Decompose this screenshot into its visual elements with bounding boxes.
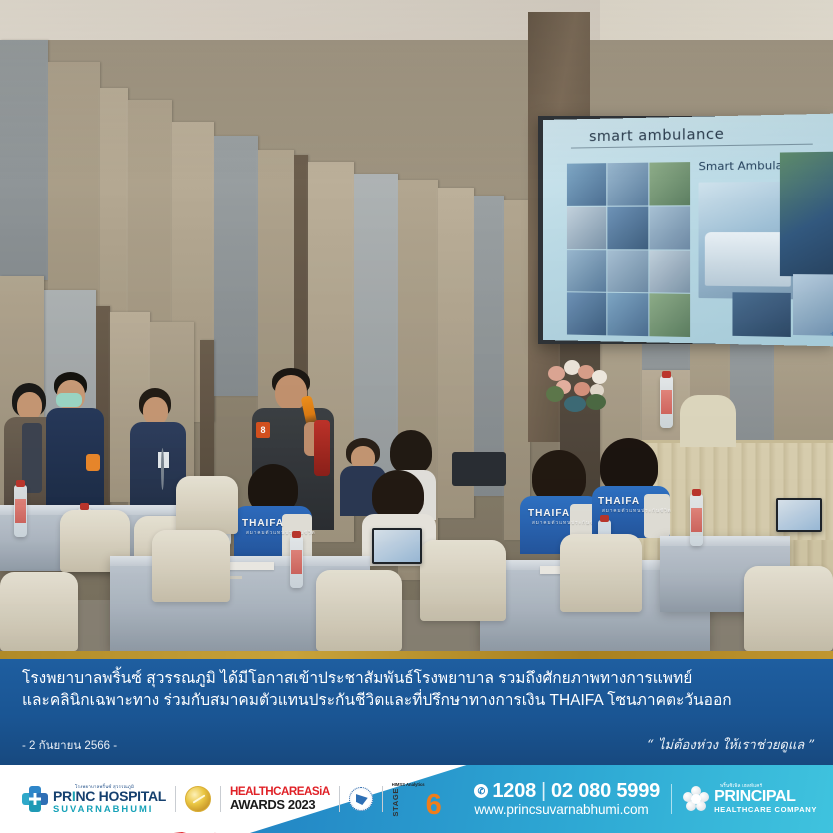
jersey-label: THAIFA [242,518,284,529]
chair [420,540,506,621]
fire-extinguisher [314,420,330,476]
gold-divider [0,651,833,659]
phone-separator: | [539,781,548,802]
phone-secondary: 02 080 5999 [551,781,660,802]
brand-tagline: “ ไม่ต้องห่วง ให้เราช่วยดูแล ” [647,734,815,755]
tablet-device [372,528,422,564]
chair [316,570,402,651]
slide-monitor-photo [732,292,790,337]
stage-label: STAGE [392,788,400,817]
water-bottle [14,485,27,537]
divider [339,786,340,812]
principal-healthcare-logo[interactable]: พริ้นซิเพิล เฮลท์แคร์ PRINCIPAL HEALTHCA… [683,784,817,813]
princ-name: PRINC HOSPITAL [53,789,166,803]
gold-medal-icon [185,786,211,812]
jersey-label: THAIFA [528,508,570,519]
stage-number: 6 [426,794,442,817]
speaker-shirt-badge: 8 [256,422,270,438]
divider [671,784,672,814]
projection-screen: smart ambulance Smart Ambulance ✛ [538,116,833,344]
divider [382,786,383,812]
flower-arrangement [540,360,622,412]
person-staff-man-mask [46,372,106,522]
caption-line-2: และคลินิกเฉพาะทาง ร่วมกับสมาคมตัวแทนประก… [22,690,815,712]
himss-stage6-badge: HIMSS Analytics STAGE 6 [392,782,442,817]
caption-bar: โรงพยาบาลพริ้นซ์ สุวรรณภูมิ ได้มีโอกาสเข… [0,659,833,765]
chair [0,572,78,651]
awards-line-2: AWARDS 2023 [230,798,330,811]
water-bottle [290,536,303,588]
chair [176,476,238,534]
principal-flower-icon [683,786,709,812]
principal-name: PRINCIPAL [714,789,817,805]
event-date: - 2 กันยายน 2566 - [22,737,117,755]
slide-tablet-photo [780,152,833,277]
princ-subname: SUVARNABHUMI [53,804,166,813]
event-photograph: smart ambulance Smart Ambulance ✛ [0,0,833,651]
chair [560,534,642,612]
slide-photo-grid [567,162,690,337]
tablet-device [776,498,822,532]
footer-bar: โรงพยาบาลพริ้นซ์ สุวรรณภูมิ PRINC HOSPIT… [0,765,833,833]
phone-primary: 1208 [492,781,536,802]
website-url[interactable]: www.princsuvarnabhumi.com [474,803,660,817]
phone-numbers: ✆ 1208 | 02 080 5999 [474,781,660,802]
jersey-sublabel: สมาคมตัวแทนประกันชีวิต [246,530,316,537]
phone-icon: ✆ [474,784,488,798]
himss-label: HIMSS Analytics [392,782,425,787]
healthcare-asia-awards-badge: HEALTHCAREASiA AWARDS 2023 [230,786,330,811]
princ-cross-icon [22,786,48,812]
divider [175,786,176,812]
chair [744,566,833,651]
head-table-chair [680,395,736,447]
chair [152,530,230,602]
water-bottle [660,376,673,428]
av-equipment [452,452,506,486]
princ-hospital-logo[interactable]: โรงพยาบาลพริ้นซ์ สุวรรณภูมิ PRINC HOSPIT… [22,785,166,814]
water-bottle [690,494,703,546]
accreditation-seal-icon [349,787,373,811]
contact-block[interactable]: ✆ 1208 | 02 080 5999 www.princsuvarnabhu… [474,781,660,817]
slide-crew-photo [793,274,833,336]
slide-title: smart ambulance [589,126,724,145]
social-media-poster: smart ambulance Smart Ambulance ✛ [0,0,833,833]
jersey-sublabel: สมาคมตัวแทนประกันชีวิต [602,508,672,515]
principal-subname: HEALTHCARE COMPANY [714,806,817,814]
caption-line-1: โรงพยาบาลพริ้นซ์ สุวรรณภูมิ ได้มีโอกาสเข… [22,668,815,690]
divider [220,786,221,812]
jersey-label: THAIFA [598,496,640,507]
